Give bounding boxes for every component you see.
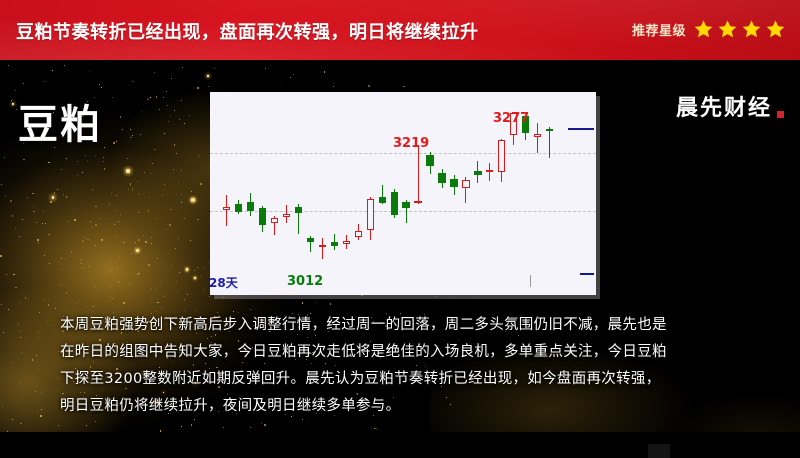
candle-body [450,179,457,188]
analysis-line-2: 在昨日的组图中告知大家，今日豆粕再次走低将是绝佳的入场良机，多单重点关注，今日豆… [60,339,750,366]
analysis-line-4: 明日豆粕仍将继续拉升，夜间及明日继续多单参与。 [60,393,750,420]
header-banner: 豆粕节奏转折已经出现，盘面再次转强，明日将继续拉升 推荐星级 [0,0,800,60]
candle-body [379,197,386,203]
rating-label: 推荐星级 [632,20,686,39]
headline-text: 豆粕节奏转折已经出现，盘面再次转强，明日将继续拉升 [16,18,479,44]
analysis-line-1: 本周豆粕强势创下新高后步入调整行情，经过周一的回落，周二多头氛围仍旧不减，晨先也… [60,312,750,339]
candlestick-chart-panel[interactable]: 28天301232193277 [210,92,596,295]
chart-high-label: 3277 [493,111,529,126]
candle-body [474,171,481,175]
ma-reference-line [568,128,594,130]
footer-patch [648,444,670,458]
candle-body [462,180,469,189]
brand-dot-icon [777,111,784,118]
candle-body [319,245,326,248]
chart-low-label: 3012 [287,274,323,289]
star-rating [693,19,786,39]
candle-body [391,192,398,215]
analysis-paragraph: 本周豆粕强势创下新高后步入调整行情，经过周一的回落，周二多头氛围仍旧不减，晨先也… [60,312,750,420]
brand-logo: 晨先财经 [676,90,784,122]
candle-body [235,204,242,212]
candle-body [247,202,254,210]
axis-tick [530,275,531,287]
ma-reference-line [580,273,594,275]
candle-wick [226,195,227,226]
candle-body [271,218,278,222]
candle-body [259,208,266,225]
star-icon [741,19,762,39]
candle-body [343,241,350,244]
candle-wick [537,123,538,153]
candle-body [307,238,314,241]
chart-gridline [210,211,596,212]
star-icon [693,19,714,39]
page-title: 豆粕 [18,92,102,150]
candle-body [355,231,362,238]
candle-body [402,202,409,209]
candle-body [223,207,230,210]
candle-body [295,207,302,213]
chart-period-label: 28天 [210,274,238,291]
candle-wick [322,238,323,259]
footer-bar [0,432,800,458]
candle-body [534,134,541,137]
brand-name: 晨先财经 [676,90,772,122]
candle-body [283,214,290,217]
rating-group: 推荐星级 [632,19,786,39]
candle-body [546,129,553,132]
candle-body [414,201,421,204]
candle-body [486,170,493,173]
candle-body [426,155,433,166]
candle-wick [418,145,419,204]
star-icon [717,19,738,39]
candle-body [498,140,505,172]
candle-body [331,242,338,246]
analysis-line-3: 下探至3200整数附近如期反弹回升。晨先认为豆粕节奏转折已经出现，如今盘面再次转… [60,366,750,393]
candle-body [438,173,445,183]
star-icon [765,19,786,39]
candle-body [367,199,374,230]
chart-plot-area: 28天301232193277 [210,92,596,295]
poster-canvas: 豆粕节奏转折已经出现，盘面再次转强，明日将继续拉升 推荐星级 豆粕 晨先财经 2… [0,0,800,458]
chart-mid-high-label: 3219 [393,136,429,151]
